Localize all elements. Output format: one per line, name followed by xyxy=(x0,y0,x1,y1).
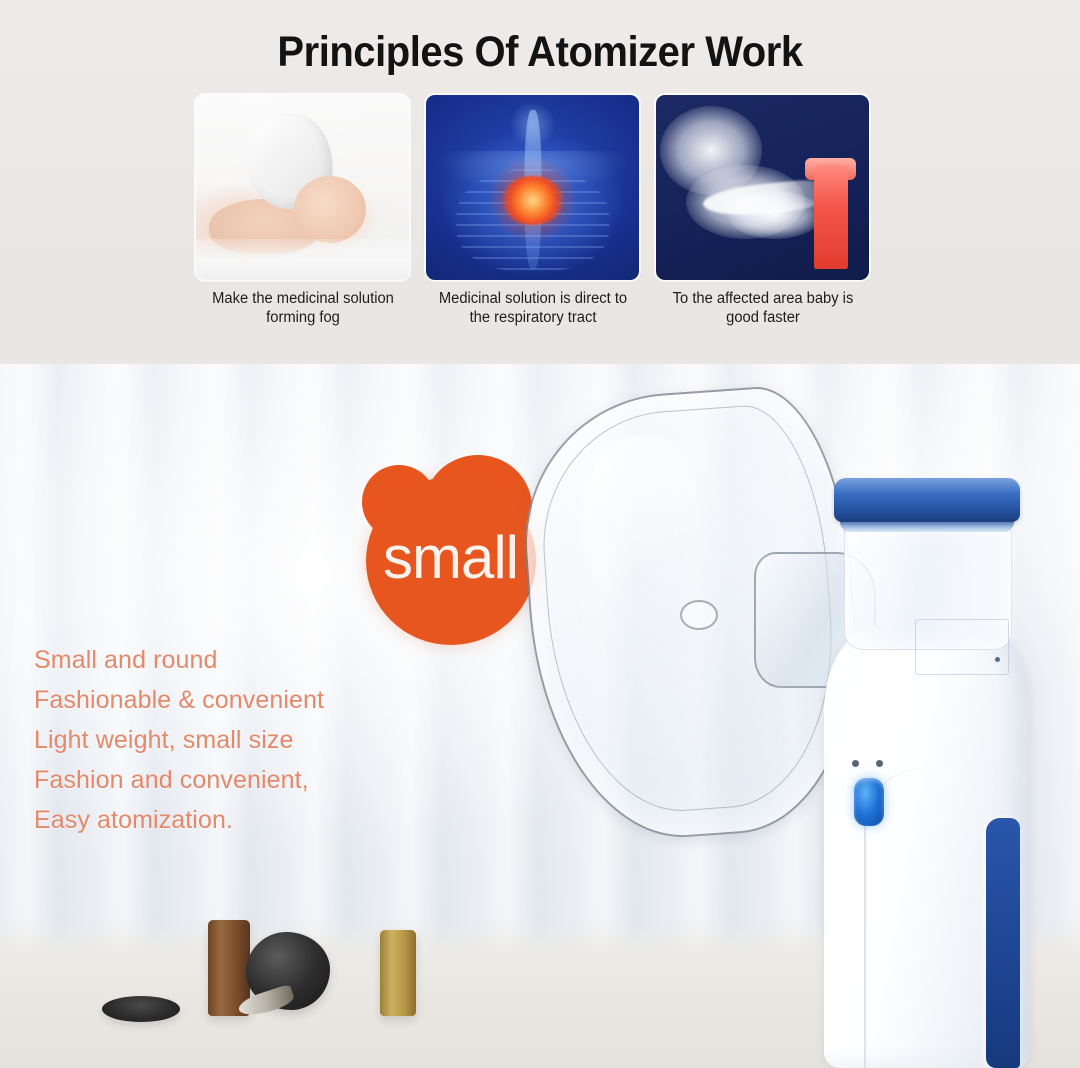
feature-list: Small and round Fashionable & convenient… xyxy=(34,640,454,840)
device-medicine-tank xyxy=(844,528,1012,650)
baby-with-nebulizer-mask-photo xyxy=(196,95,409,280)
step-item-1: Make the medicinal solution forming fog xyxy=(196,95,409,327)
step-caption-1: Make the medicinal solution forming fog xyxy=(203,289,403,327)
device-blue-stripe xyxy=(986,818,1020,1068)
badge-label: small xyxy=(358,455,543,645)
feature-line: Fashion and convenient, xyxy=(34,760,454,800)
mask-vent-hole xyxy=(680,600,718,630)
handheld-mesh-nebulizer xyxy=(818,478,1038,1068)
baby-head-shape xyxy=(294,176,366,243)
step-caption-3: To the affected area baby is good faster xyxy=(663,289,863,327)
decor-dark-tray xyxy=(102,996,180,1022)
page-title: Principles Of Atomizer Work xyxy=(38,26,1042,78)
power-button[interactable] xyxy=(854,778,884,826)
device-indicator-led xyxy=(876,760,883,767)
feature-line: Easy atomization. xyxy=(34,800,454,840)
mist-from-nozzle-photo xyxy=(656,95,869,280)
feature-line: Fashionable & convenient xyxy=(34,680,454,720)
principles-banner: Principles Of Atomizer Work Make the med… xyxy=(0,0,1080,364)
steps-row: Make the medicinal solution forming fog … xyxy=(196,95,886,327)
nozzle-body-shape xyxy=(814,165,848,269)
mask-highlight-glint xyxy=(580,436,700,616)
step-item-3: To the affected area baby is good faster xyxy=(656,95,869,327)
device-indicator-led xyxy=(852,760,859,767)
device-blue-cap xyxy=(834,478,1020,522)
tank-indicator-dot xyxy=(995,657,1000,662)
bed-sheet-shape xyxy=(196,239,409,280)
lungs-glow-highlight xyxy=(501,176,565,224)
feature-line: Small and round xyxy=(34,640,454,680)
blue-anatomy-respiratory-xray-photo xyxy=(426,95,639,280)
product-poster: Principles Of Atomizer Work Make the med… xyxy=(0,0,1080,1068)
small-badge: small xyxy=(358,455,543,645)
decor-gold-candle xyxy=(380,930,416,1016)
feature-line: Light weight, small size xyxy=(34,720,454,760)
decor-dark-ornament-ball xyxy=(246,932,330,1010)
step-caption-2: Medicinal solution is direct to the resp… xyxy=(433,289,633,327)
tank-window-outline xyxy=(915,619,1009,675)
step-item-2: Medicinal solution is direct to the resp… xyxy=(426,95,639,327)
